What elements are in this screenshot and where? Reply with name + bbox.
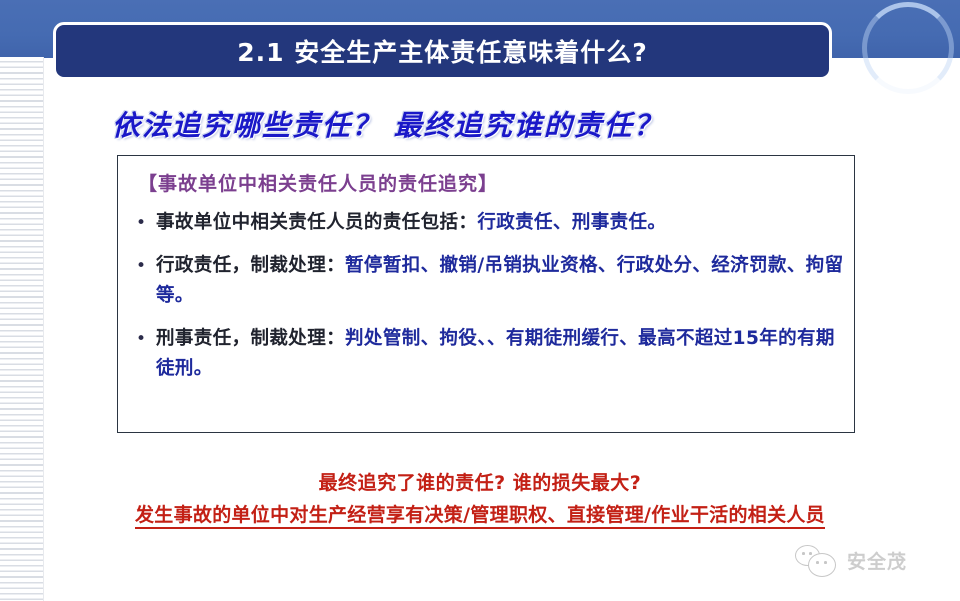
list-item: • 事故单位中相关责任人员的责任包括：行政责任、刑事责任。: [118, 208, 856, 238]
list-item-text: 事故单位中相关责任人员的责任包括：行政责任、刑事责任。: [156, 208, 856, 238]
slide-title-plate: 2.1 安全生产主体责任意味着什么?: [53, 22, 832, 80]
list-item-lead: 事故单位中相关责任人员的责任包括：: [156, 212, 477, 233]
wechat-eye: [802, 552, 805, 555]
wechat-bubble-large: [808, 553, 836, 577]
decorative-arc-icon: [862, 2, 954, 94]
wechat-eye: [816, 561, 819, 564]
list-item: • 行政责任，制裁处理：暂停暂扣、撤销/吊销执业资格、行政处分、经济罚款、拘留等…: [118, 251, 856, 311]
list-item: • 刑事责任，制裁处理：判处管制、拘役、、有期徒刑缓行、最高不超过15年的有期徒…: [118, 324, 856, 384]
list-item-emphasis: 行政责任、刑事责任。: [477, 212, 666, 233]
bullet-marker-icon: •: [126, 208, 156, 238]
content-box-heading: 【事故单位中相关责任人员的责任追究】: [138, 169, 498, 196]
bullet-list: • 事故单位中相关责任人员的责任包括：行政责任、刑事责任。 • 行政责任，制裁处…: [118, 208, 856, 397]
list-item-lead: 行政责任，制裁处理：: [156, 255, 345, 276]
list-item-text: 行政责任，制裁处理：暂停暂扣、撤销/吊销执业资格、行政处分、经济罚款、拘留等。: [156, 251, 856, 311]
slide-canvas: 2.1 安全生产主体责任意味着什么? 依法追究哪些责任？ 最终追究谁的责任？ 【…: [0, 0, 960, 601]
conclusion-answer-text: 发生事故的单位中对生产经营享有决策/管理职权、直接管理/作业干活的相关人员: [135, 504, 825, 529]
watermark-label: 安全茂: [847, 547, 907, 574]
conclusion-question: 最终追究了谁的责任? 谁的损失最大?: [0, 468, 960, 495]
bullet-marker-icon: •: [126, 251, 156, 281]
wechat-eye: [824, 561, 827, 564]
watermark: 安全茂: [795, 543, 907, 577]
question-heading: 依法追究哪些责任？ 最终追究谁的责任？: [112, 104, 812, 144]
wechat-bubbles-icon: [795, 543, 841, 577]
conclusion-answer: 发生事故的单位中对生产经营享有决策/管理职权、直接管理/作业干活的相关人员: [0, 500, 960, 527]
bullet-marker-icon: •: [126, 324, 156, 354]
list-item-lead: 刑事责任，制裁处理：: [156, 328, 345, 349]
list-item-text: 刑事责任，制裁处理：判处管制、拘役、、有期徒刑缓行、最高不超过15年的有期徒刑。: [156, 324, 856, 384]
page-title: 2.1 安全生产主体责任意味着什么?: [237, 33, 648, 69]
wechat-eye: [809, 552, 812, 555]
content-box: 【事故单位中相关责任人员的责任追究】 • 事故单位中相关责任人员的责任包括：行政…: [117, 155, 855, 433]
